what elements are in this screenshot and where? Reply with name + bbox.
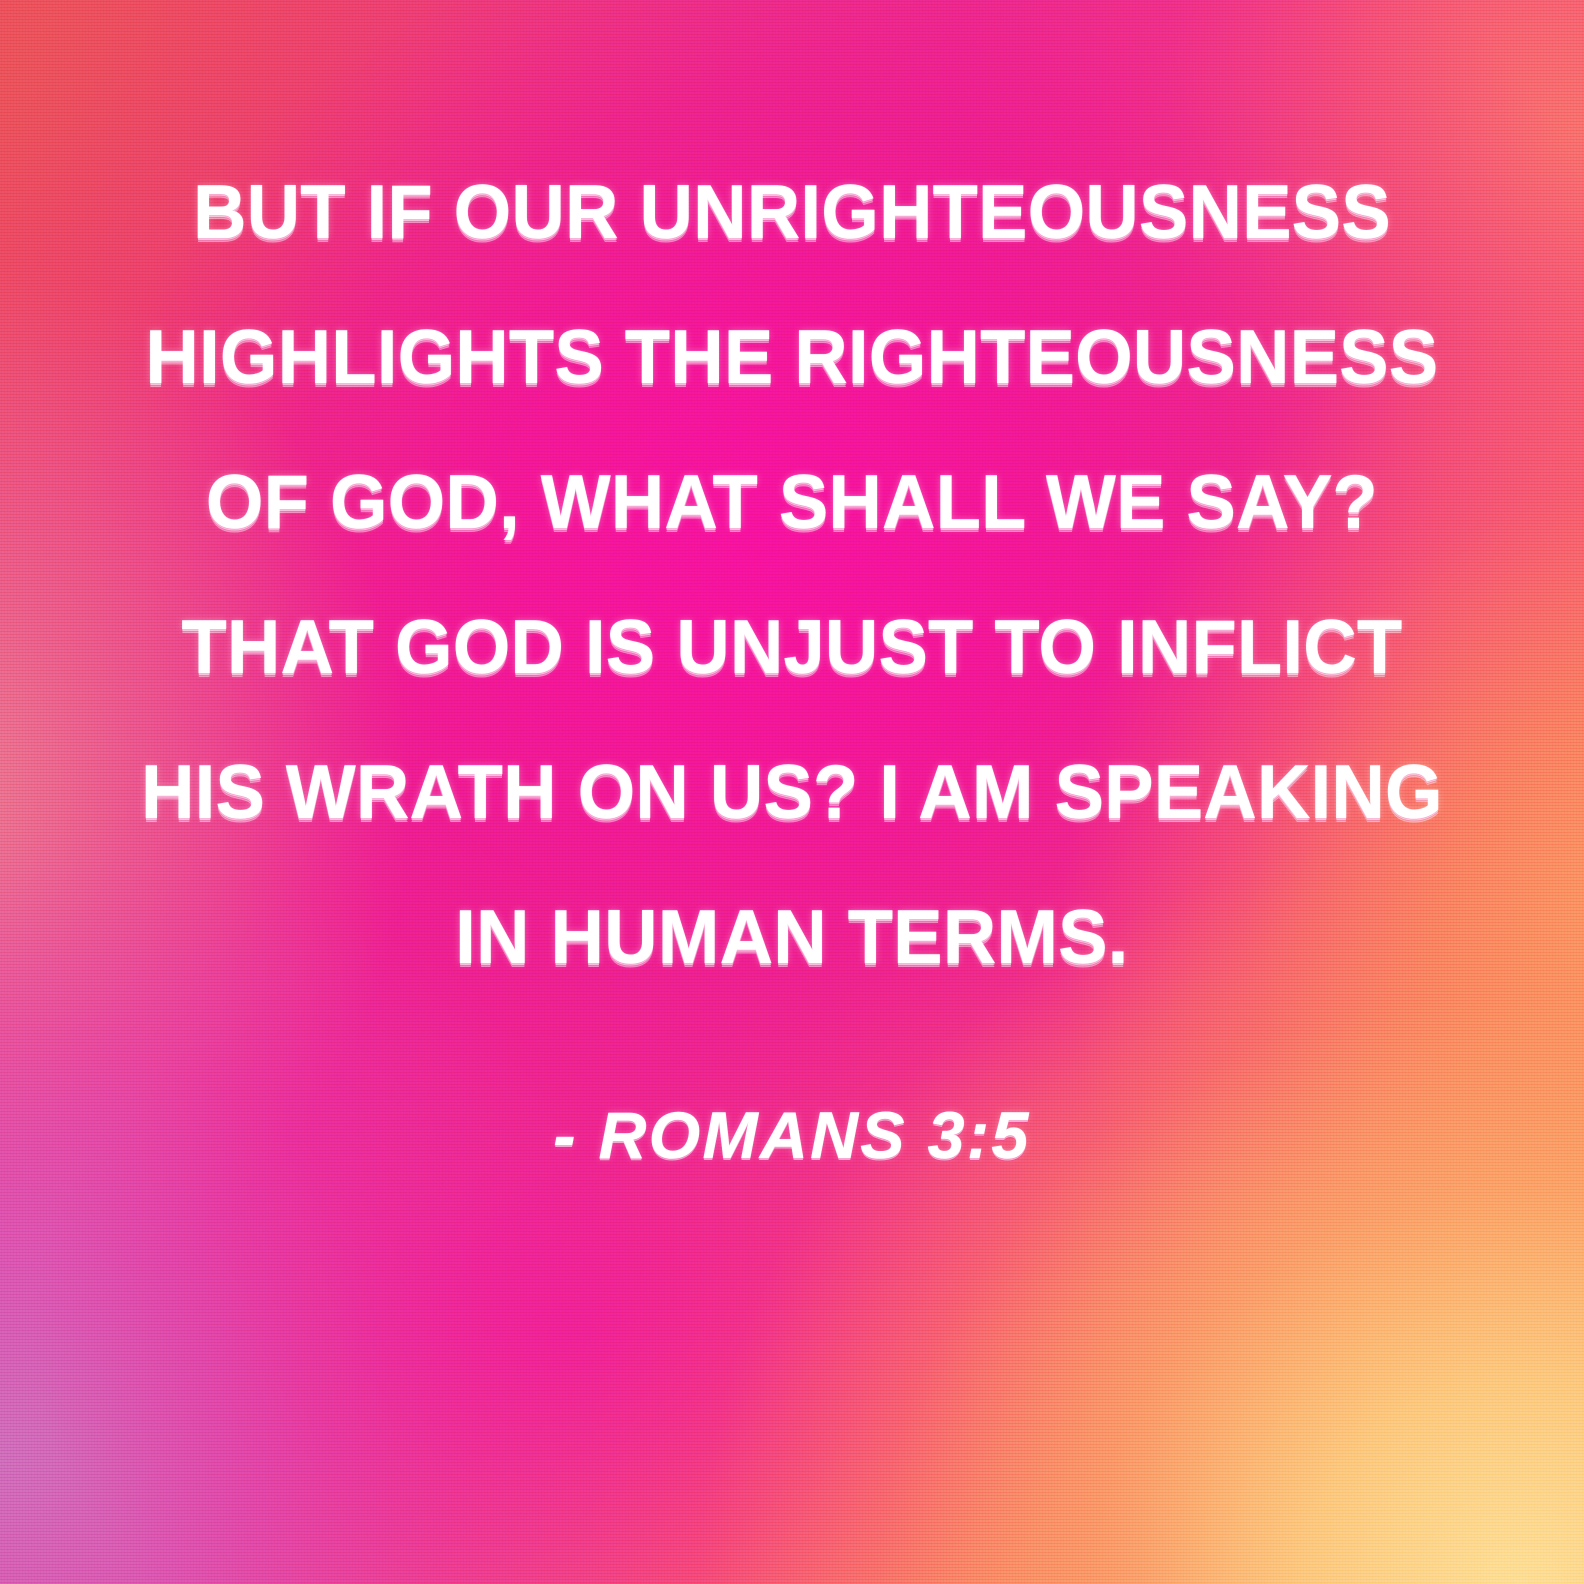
verse-line-6: IN HUMAN TERMS. — [24, 865, 1560, 1010]
verse-line-3: OF GOD, WHAT SHALL WE SAY? — [24, 430, 1560, 575]
verse-line-4: THAT GOD IS UNJUST TO INFLICT — [24, 575, 1560, 720]
quote-card: BUT IF OUR UNRIGHTEOUSNESS HIGHLIGHTS TH… — [0, 0, 1584, 1584]
verse-line-5: HIS WRATH ON US? I AM SPEAKING — [24, 720, 1560, 865]
verse-text-block: BUT IF OUR UNRIGHTEOUSNESS HIGHLIGHTS TH… — [0, 140, 1584, 1174]
verse-attribution: - ROMANS 3:5 — [0, 1096, 1584, 1174]
verse-line-2: HIGHLIGHTS THE RIGHTEOUSNESS — [24, 285, 1560, 430]
verse-line-1: BUT IF OUR UNRIGHTEOUSNESS — [24, 140, 1560, 285]
